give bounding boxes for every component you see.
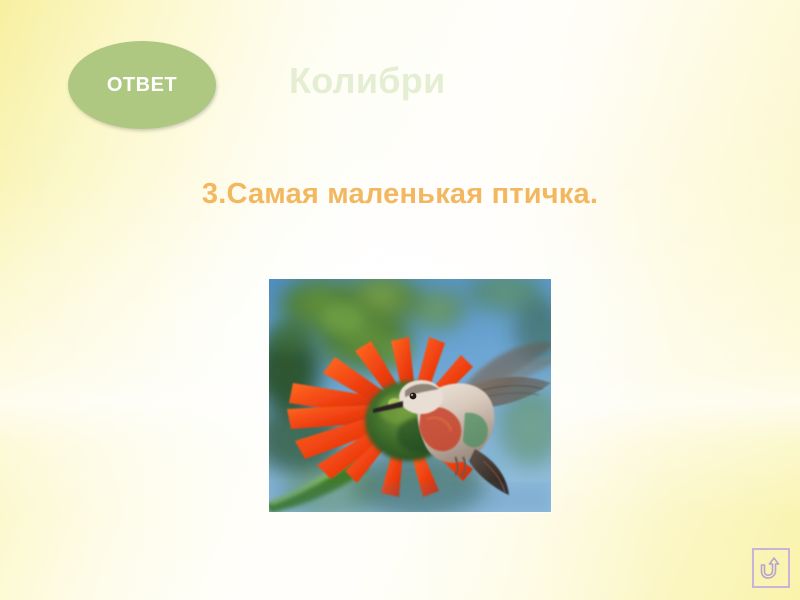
return-button[interactable] bbox=[752, 548, 790, 588]
answer-word: Колибри bbox=[289, 60, 446, 102]
hummingbird-illustration bbox=[269, 279, 551, 512]
answer-badge-label: ОТВЕТ bbox=[107, 74, 177, 97]
return-arrow-icon bbox=[759, 555, 783, 581]
question-text: 3.Самая маленькая птичка. bbox=[0, 178, 800, 211]
slide-canvas: ОТВЕТ Колибри 3.Самая маленькая птичка. bbox=[0, 0, 800, 600]
answer-badge[interactable]: ОТВЕТ bbox=[68, 41, 216, 129]
hummingbird-photo bbox=[269, 279, 551, 512]
